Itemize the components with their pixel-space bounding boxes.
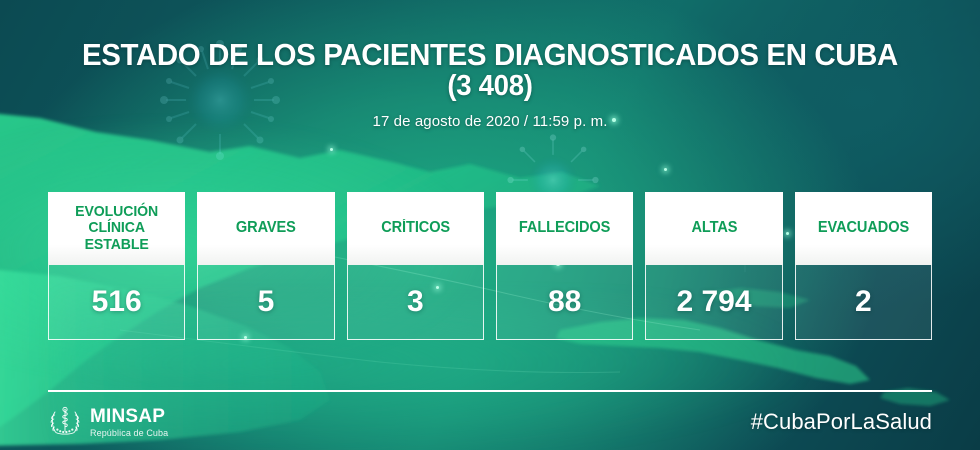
- minsap-brand-text: MINSAP República de Cuba: [90, 407, 168, 438]
- stat-card-criticos: CRÍTICOS 3: [347, 192, 484, 340]
- report-timestamp: 17 de agosto de 2020 / 11:59 p. m.: [0, 113, 980, 130]
- stat-card-header: EVACUADOS: [795, 192, 932, 265]
- stat-card-evolucion-clinica-estable: EVOLUCIÓN CLÍNICA ESTABLE 516: [48, 192, 185, 340]
- stat-card-header: FALLECIDOS: [496, 192, 633, 265]
- stat-card-label: EVACUADOS: [818, 220, 909, 237]
- page-title-total: (3 408): [25, 71, 956, 102]
- stat-card-body: 5: [197, 265, 334, 340]
- stat-card-graves: GRAVES 5: [197, 192, 334, 340]
- stat-card-header: CRÍTICOS: [347, 192, 484, 265]
- page-title: ESTADO DE LOS PACIENTES DIAGNOSTICADOS E…: [25, 38, 956, 103]
- sparkle-dot: [664, 168, 667, 171]
- stat-card-value: 5: [258, 285, 275, 319]
- stat-card-label: CRÍTICOS: [381, 220, 450, 237]
- stat-card-value: 2 794: [676, 285, 751, 319]
- stat-card-body: 2: [795, 265, 932, 340]
- stat-card-fallecidos: FALLECIDOS 88: [496, 192, 633, 340]
- minsap-brand-subtitle: República de Cuba: [90, 429, 168, 438]
- infographic-canvas: ESTADO DE LOS PACIENTES DIAGNOSTICADOS E…: [0, 0, 980, 450]
- stat-card-body: 3: [347, 265, 484, 340]
- page-title-text: ESTADO DE LOS PACIENTES DIAGNOSTICADOS E…: [82, 37, 898, 72]
- stat-card-value: 2: [855, 285, 872, 319]
- campaign-hashtag: #CubaPorLaSalud: [751, 409, 932, 435]
- stat-card-header: EVOLUCIÓN CLÍNICA ESTABLE: [48, 192, 185, 265]
- stat-card-value: 88: [548, 285, 581, 319]
- stat-card-value: 516: [92, 285, 142, 319]
- stat-card-row: EVOLUCIÓN CLÍNICA ESTABLE 516 GRAVES 5 C…: [48, 192, 932, 340]
- stat-card-value: 3: [407, 285, 424, 319]
- stat-card-label: GRAVES: [236, 220, 296, 237]
- stat-card-header: GRAVES: [197, 192, 334, 265]
- stat-card-body: 88: [496, 265, 633, 340]
- stat-card-evacuados: EVACUADOS 2: [795, 192, 932, 340]
- minsap-caduceus-emblem-icon: [48, 405, 82, 439]
- minsap-brand: MINSAP República de Cuba: [48, 405, 168, 439]
- stat-card-altas: ALTAS 2 794: [645, 192, 782, 340]
- footer-divider: [48, 390, 932, 392]
- stat-card-label: EVOLUCIÓN CLÍNICA ESTABLE: [56, 204, 178, 252]
- stat-card-body: 2 794: [645, 265, 782, 340]
- footer-block: MINSAP República de Cuba #CubaPorLaSalud: [48, 400, 932, 444]
- stat-card-header: ALTAS: [645, 192, 782, 265]
- stat-card-label: FALLECIDOS: [519, 220, 610, 237]
- stat-card-label: ALTAS: [691, 220, 737, 237]
- sparkle-dot: [330, 148, 333, 151]
- header-block: ESTADO DE LOS PACIENTES DIAGNOSTICADOS E…: [0, 38, 980, 130]
- stat-card-body: 516: [48, 265, 185, 340]
- minsap-brand-name: MINSAP: [90, 407, 168, 426]
